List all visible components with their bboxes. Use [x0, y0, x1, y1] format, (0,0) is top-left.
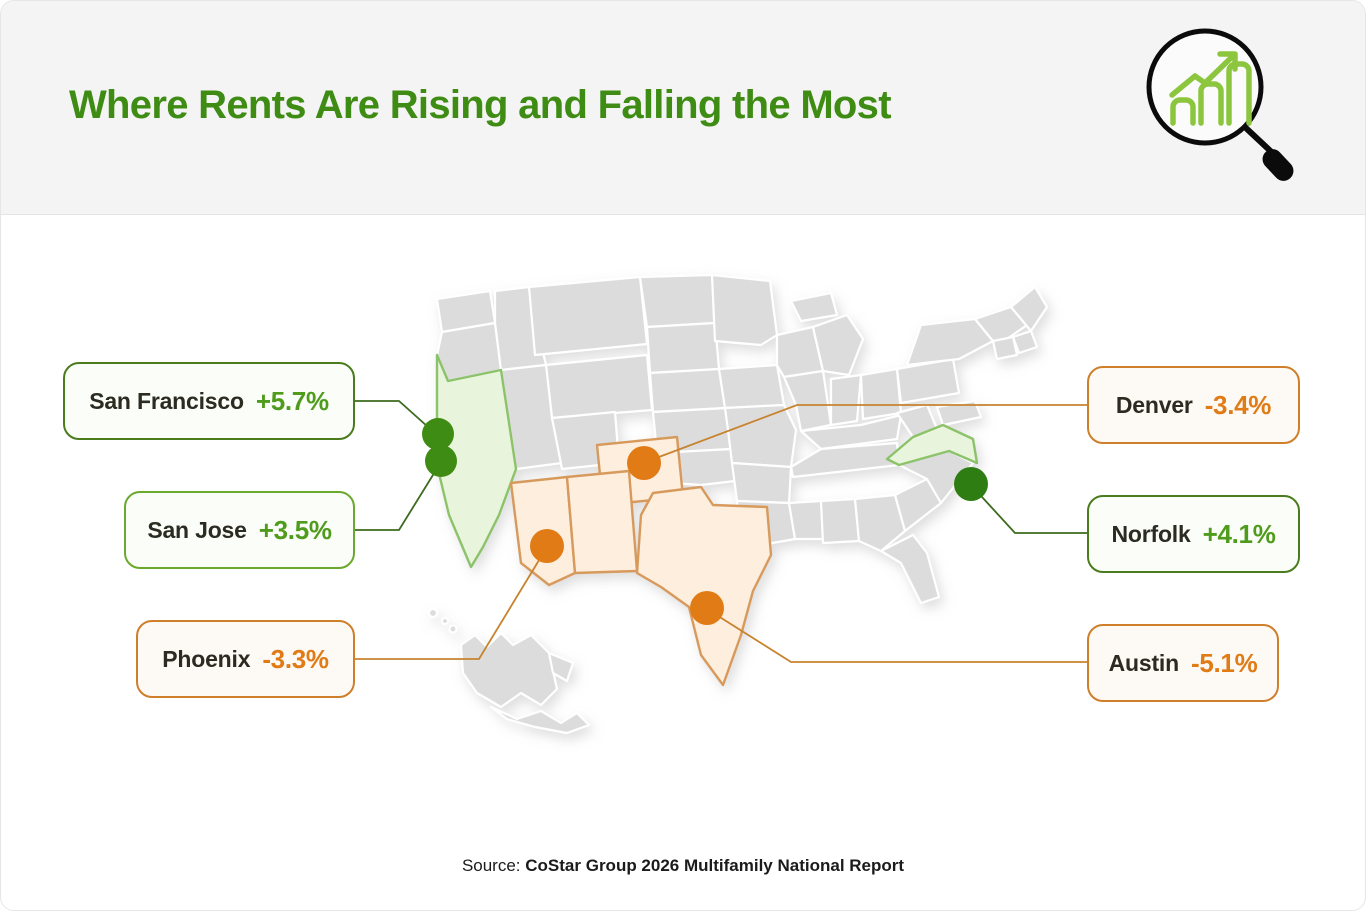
callout-city-phoenix: Phoenix	[162, 646, 250, 673]
callout-denver[interactable]: Denver -3.4%	[1087, 366, 1300, 444]
dot-denver	[627, 446, 661, 480]
dot-san-jose	[425, 445, 457, 477]
dot-austin	[690, 591, 724, 625]
callout-san-francisco[interactable]: San Francisco +5.7%	[63, 362, 355, 440]
callout-city-austin: Austin	[1109, 650, 1179, 677]
source-line: Source: CoStar Group 2026 Multifamily Na…	[1, 856, 1365, 876]
callout-san-jose[interactable]: San Jose +3.5%	[124, 491, 355, 569]
callout-norfolk[interactable]: Norfolk +4.1%	[1087, 495, 1300, 573]
callout-value-austin: -5.1%	[1191, 648, 1257, 679]
header-bar: Where Rents Are Rising and Falling the M…	[1, 1, 1365, 215]
source-name: CoStar Group 2026 Multifamily National R…	[525, 856, 904, 875]
dot-phoenix	[530, 529, 564, 563]
callout-value-phoenix: -3.3%	[262, 644, 328, 675]
connector-austin	[707, 609, 1087, 662]
callout-value-san-francisco: +5.7%	[256, 386, 329, 417]
callout-city-norfolk: Norfolk	[1111, 521, 1190, 548]
connector-san-jose	[355, 462, 441, 530]
dot-san-francisco	[422, 418, 454, 450]
source-prefix: Source:	[462, 856, 521, 875]
dot-norfolk	[954, 467, 988, 501]
map-stage: San Francisco +5.7% San Jose +3.5% Phoen…	[1, 215, 1366, 911]
infographic-page: Where Rents Are Rising and Falling the M…	[0, 0, 1366, 911]
callout-phoenix[interactable]: Phoenix -3.3%	[136, 620, 355, 698]
page-title: Where Rents Are Rising and Falling the M…	[69, 83, 891, 128]
callout-city-san-francisco: San Francisco	[89, 388, 244, 415]
callout-austin[interactable]: Austin -5.1%	[1087, 624, 1279, 702]
magnifying-glass-bar-chart-icon	[1139, 23, 1309, 183]
callout-value-denver: -3.4%	[1205, 390, 1271, 421]
callout-city-denver: Denver	[1116, 392, 1193, 419]
connector-norfolk	[971, 485, 1087, 533]
callout-value-norfolk: +4.1%	[1203, 519, 1276, 550]
callout-city-san-jose: San Jose	[147, 517, 246, 544]
state-group-inset	[429, 609, 589, 733]
callout-value-san-jose: +3.5%	[259, 515, 332, 546]
